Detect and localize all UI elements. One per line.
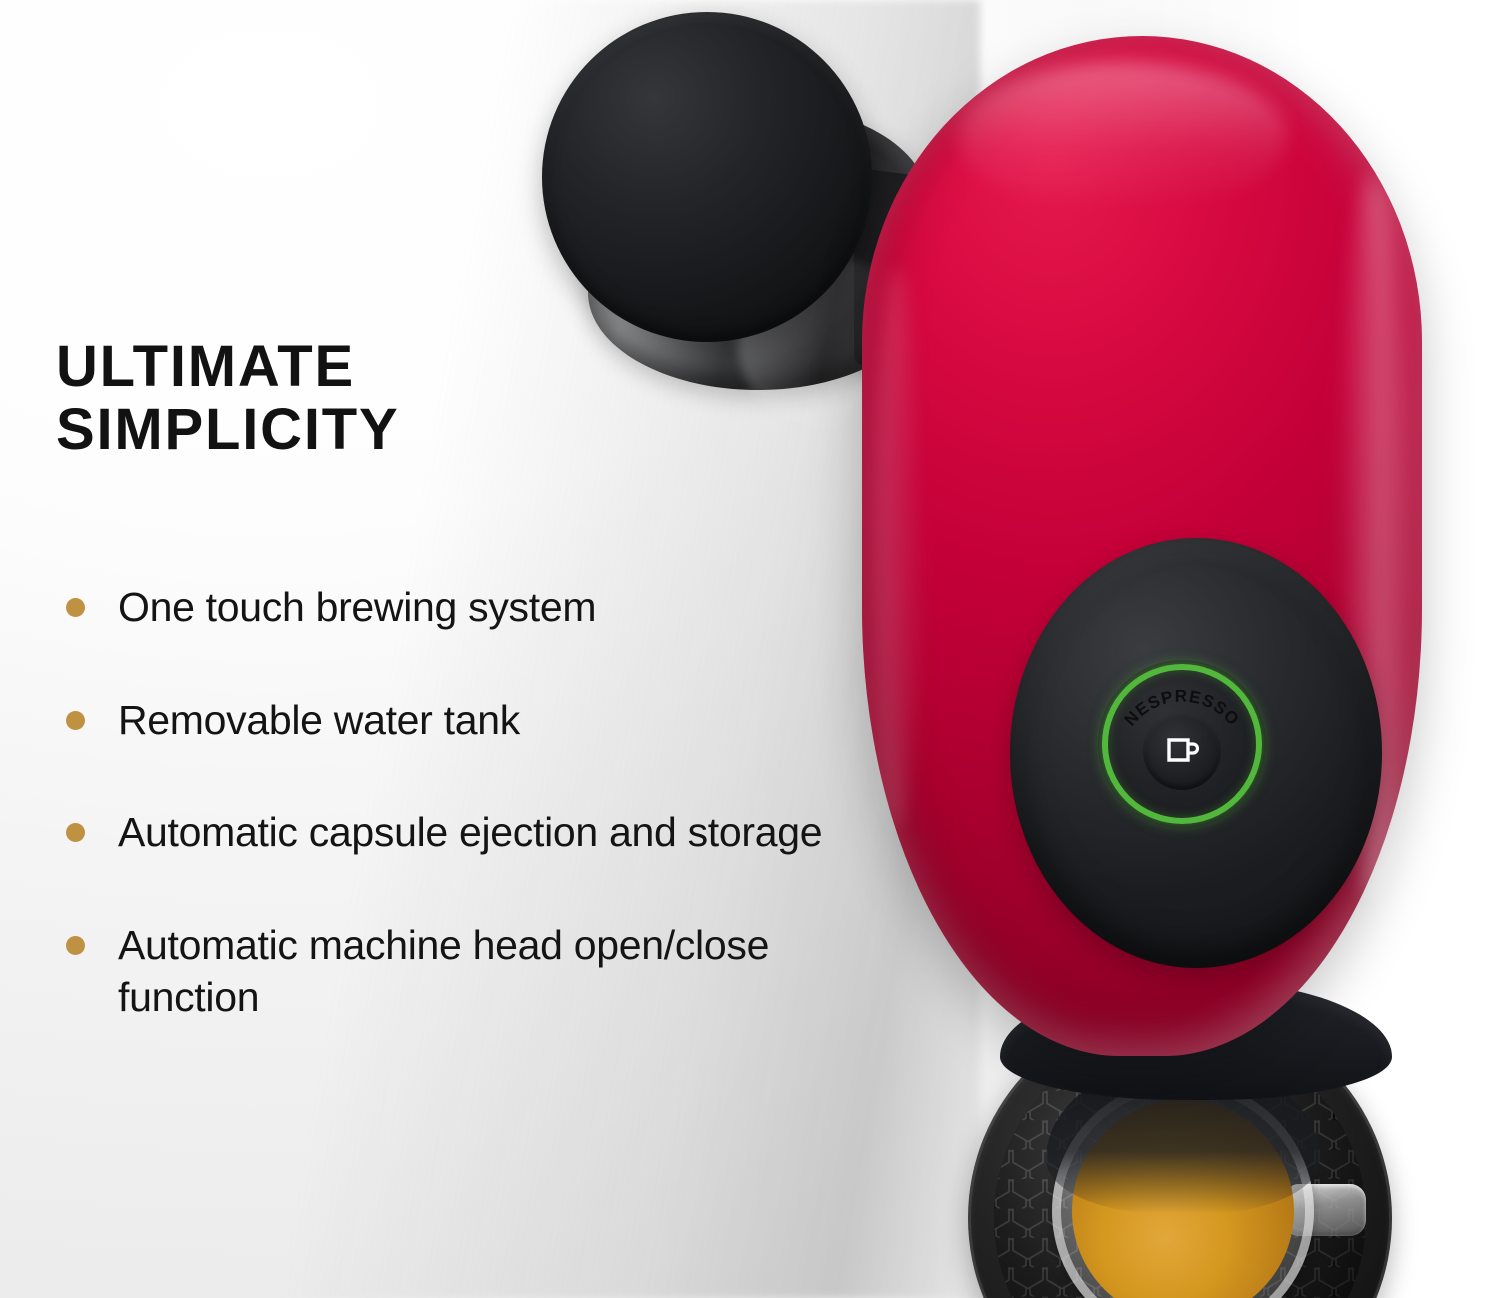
product-feature-banner: ULTIMATE SIMPLICITY One touch brewing sy… [0,0,1500,1298]
list-item: Removable water tank [56,694,866,746]
copy-block: ULTIMATE SIMPLICITY One touch brewing sy… [56,336,866,1024]
coffee-cup-icon [1165,735,1199,767]
bullet-dot-icon [66,823,85,842]
list-item: One touch brewing system [56,581,866,633]
list-item: Automatic capsule ejection and storage [56,806,866,858]
feature-text: Automatic capsule ejection and storage [118,806,866,858]
bullet-dot-icon [66,598,85,617]
feature-list: One touch brewing system Removable water… [56,581,866,1023]
bullet-dot-icon [66,936,85,955]
headline-line-2: SIMPLICITY [56,399,866,462]
water-tank-lid[interactable] [542,12,872,342]
bullet-dot-icon [66,711,85,730]
espresso-glass-cup [1052,1080,1314,1298]
feature-text: Automatic machine head open/close functi… [118,919,866,1024]
list-item: Automatic machine head open/close functi… [56,919,866,1024]
feature-text: Removable water tank [118,694,866,746]
cup-glass-body [1052,1080,1314,1298]
feature-text: One touch brewing system [118,581,866,633]
headline-line-1: ULTIMATE [56,334,355,399]
brew-button-center[interactable] [1143,712,1221,790]
brew-button[interactable]: NESPRESSO [1098,660,1266,828]
